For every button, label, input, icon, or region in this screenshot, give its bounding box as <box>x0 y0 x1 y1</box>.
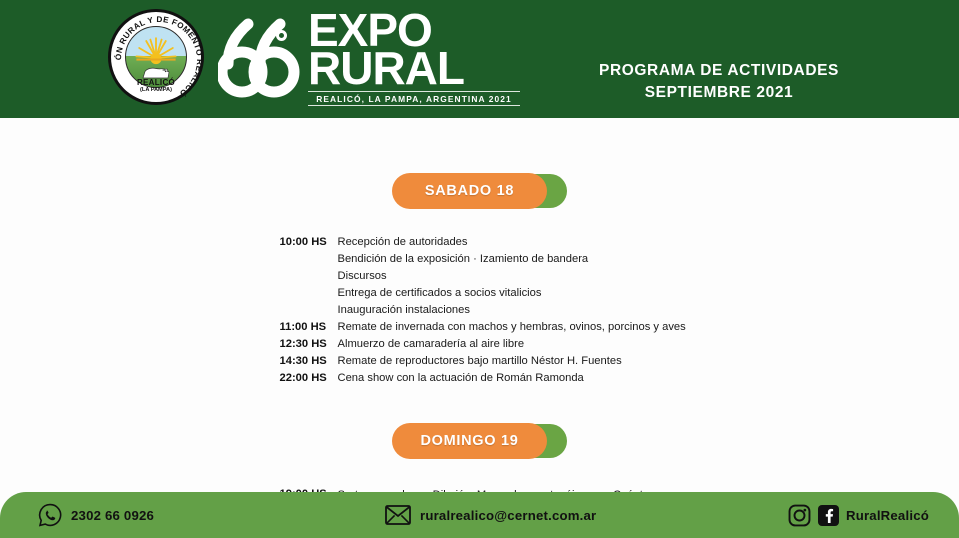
sixty-six-glyph-icon <box>218 10 306 106</box>
emblem-bottom-text: REALICÓ (LA PAMPA) <box>137 79 175 94</box>
degree-symbol-icon <box>276 30 287 41</box>
day-block-saturday: SABADO 18 10:00 HS Recepción de autorida… <box>0 173 959 387</box>
schedule-item: Discursos <box>338 268 680 285</box>
badge-orange-pill: SABADO 18 <box>392 173 547 209</box>
schedule-row: 22:00 HS Cena show con la actuación de R… <box>280 370 680 387</box>
expo-rural-text: EXPO RURAL REALICÓ, LA PAMPA, ARGENTINA … <box>308 12 520 106</box>
schedule-items: Remate de invernada con machos y hembras… <box>332 319 686 336</box>
footer-email[interactable]: ruralrealico@cernet.com.ar <box>385 505 596 525</box>
day-badge-sunday: DOMINGO 19 <box>392 423 567 459</box>
badge-orange-pill: DOMINGO 19 <box>392 423 547 459</box>
facebook-icon[interactable] <box>818 505 839 526</box>
schedule-row: 10:00 HS Recepción de autoridades Bendic… <box>280 234 680 319</box>
emblem-place: REALICÓ <box>137 79 175 87</box>
footer-social[interactable]: RuralRealicó <box>788 504 929 527</box>
schedule-row: 11:00 HS Remate de invernada con machos … <box>280 319 680 336</box>
header-title: PROGRAMA DE ACTIVIDADES SEPTIEMBRE 2021 <box>599 60 839 105</box>
poster-page: ASOCIACIÓN RURAL Y DE FOMENTO REALICÓ <box>0 0 959 538</box>
day-badge-saturday: SABADO 18 <box>392 173 567 209</box>
schedule-row: 12:30 HS Almuerzo de camaradería al aire… <box>280 336 680 353</box>
expo-rural-logo: EXPO RURAL REALICÓ, LA PAMPA, ARGENTINA … <box>218 8 520 106</box>
footer-social-handle: RuralRealicó <box>846 508 929 523</box>
schedule-time: 12:30 HS <box>280 336 332 353</box>
schedule-item: Bendición de la exposición · Izamiento d… <box>338 251 680 268</box>
schedule-item: Recepción de autoridades <box>338 234 680 251</box>
day-badge-label: SABADO 18 <box>425 183 514 199</box>
schedule-row: 14:30 HS Remate de reproductores bajo ma… <box>280 353 680 370</box>
schedule-items: Almuerzo de camaradería al aire libre <box>332 336 680 353</box>
schedule-content: SABADO 18 10:00 HS Recepción de autorida… <box>0 118 959 538</box>
header-title-line1: PROGRAMA DE ACTIVIDADES <box>599 60 839 82</box>
schedule-item: Remate de invernada con machos y hembras… <box>338 319 686 336</box>
page-footer: 2302 66 0926 ruralrealico@cernet.com.ar … <box>0 492 959 538</box>
logo-line-rural: RURAL <box>308 50 520 88</box>
schedule-item: Cena show con la actuación de Román Ramo… <box>338 370 680 387</box>
emblem-province: (LA PAMPA) <box>137 88 175 94</box>
footer-phone[interactable]: 2302 66 0926 <box>38 503 154 527</box>
association-emblem-icon: ASOCIACIÓN RURAL Y DE FOMENTO REALICÓ <box>108 9 204 105</box>
schedule-time: 14:30 HS <box>280 353 332 370</box>
envelope-icon <box>385 505 411 525</box>
page-header: ASOCIACIÓN RURAL Y DE FOMENTO REALICÓ <box>0 0 959 118</box>
schedule-time: 11:00 HS <box>280 319 332 336</box>
logo-tagline: REALICÓ, LA PAMPA, ARGENTINA 2021 <box>308 91 520 106</box>
day-badge-label: DOMINGO 19 <box>420 433 518 449</box>
schedule-item: Almuerzo de camaradería al aire libre <box>338 336 680 353</box>
schedule-item: Entrega de certificados a socios vitalic… <box>338 285 680 302</box>
schedule-items: Remate de reproductores bajo martillo Né… <box>332 353 680 370</box>
schedule-item: Inauguración instalaciones <box>338 302 680 319</box>
brand-block: ASOCIACIÓN RURAL Y DE FOMENTO REALICÓ <box>108 8 520 106</box>
header-title-line2: SEPTIEMBRE 2021 <box>599 82 839 104</box>
instagram-icon[interactable] <box>788 504 811 527</box>
footer-email-text: ruralrealico@cernet.com.ar <box>420 508 596 523</box>
schedule-item: Remate de reproductores bajo martillo Né… <box>338 353 680 370</box>
facebook-f-glyph-icon <box>822 508 835 523</box>
schedule-time: 10:00 HS <box>280 234 332 251</box>
schedule-items: Recepción de autoridades Bendición de la… <box>332 234 680 319</box>
sixty-six-numeral-icon <box>218 10 306 106</box>
schedule-list-saturday: 10:00 HS Recepción de autoridades Bendic… <box>280 234 680 387</box>
whatsapp-icon <box>38 503 62 527</box>
footer-phone-text: 2302 66 0926 <box>71 508 154 523</box>
schedule-time: 22:00 HS <box>280 370 332 387</box>
schedule-items: Cena show con la actuación de Román Ramo… <box>332 370 680 387</box>
